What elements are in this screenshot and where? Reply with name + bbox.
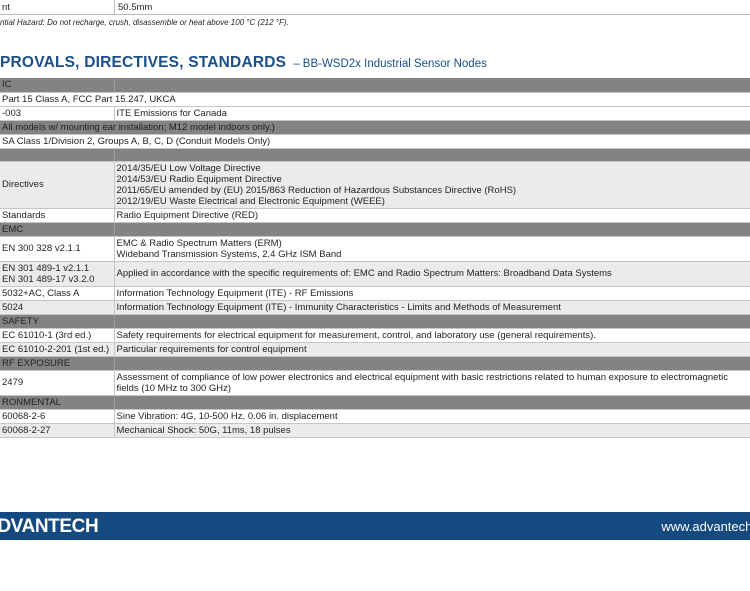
table-row: EN 301 489-1 v2.1.1EN 301 489-17 v3.2.0A… xyxy=(0,261,750,286)
table-section-label: EMC xyxy=(0,222,114,236)
table-cell-value xyxy=(114,78,750,92)
table-cell-value: Radio Equipment Directive (RED) xyxy=(114,208,750,222)
table-row: 2479Assessment of compliance of low powe… xyxy=(0,370,750,395)
table-row: EMC xyxy=(0,222,750,236)
table-row: Directives2014/35/EU Low Voltage Directi… xyxy=(0,161,750,208)
value-line: 2012/19/EU Waste Electrical and Electron… xyxy=(117,196,748,207)
table-cell-value: 2014/35/EU Low Voltage Directive2014/53/… xyxy=(114,161,750,208)
table-cell-key: 5032+AC, Class A xyxy=(0,286,114,300)
table-cell-value xyxy=(114,356,750,370)
value-line: Wideband Transmission Systems, 2.4 GHz I… xyxy=(117,249,748,260)
table-cell-value: Information Technology Equipment (ITE) -… xyxy=(114,300,750,314)
table-row: All models w/ mounting ear installation;… xyxy=(0,120,750,134)
page-footer: ADVANTECH www.advantech. xyxy=(0,512,750,540)
table-cell-value: Particular requirements for control equi… xyxy=(114,342,750,356)
table-cell-value: Mechanical Shock: 50G, 11ms, 18 pulses xyxy=(114,423,750,437)
table-row xyxy=(0,148,750,161)
table-cell-value: EMC & Radio Spectrum Matters (ERM)Wideba… xyxy=(114,236,750,261)
table-row: 60068-2-27Mechanical Shock: 50G, 11ms, 1… xyxy=(0,423,750,437)
table-row: RONMENTAL xyxy=(0,395,750,409)
table-row: IC xyxy=(0,78,750,92)
table-cell-key: 5024 xyxy=(0,300,114,314)
table-cell-value: Safety requirements for electrical equip… xyxy=(114,328,750,342)
table-section-label: RF EXPOSURE xyxy=(0,356,114,370)
page-title: PROVALS, DIRECTIVES, STANDARDS xyxy=(0,54,286,71)
advantech-logo: ADVANTECH xyxy=(0,516,98,538)
table-cell-key: 60068-2-6 xyxy=(0,409,114,423)
table-cell-key: EN 300 328 v2.1.1 xyxy=(0,236,114,261)
table-row: -003ITE Emissions for Canada xyxy=(0,106,750,120)
value-line: 2014/35/EU Low Voltage Directive xyxy=(117,163,748,174)
table-cell-key: Standards xyxy=(0,208,114,222)
approvals-spec-table: ICPart 15 Class A, FCC Part 15.247, UKCA… xyxy=(0,78,750,438)
table-cell-value xyxy=(114,395,750,409)
table-cell-value xyxy=(114,148,750,161)
table-cell-key: -003 xyxy=(0,106,114,120)
table-row: EN 300 328 v2.1.1EMC & Radio Spectrum Ma… xyxy=(0,236,750,261)
table-cell-value: ITE Emissions for Canada xyxy=(114,106,750,120)
table-row: EC 61010-1 (3rd ed.)Safety requirements … xyxy=(0,328,750,342)
table-section-label: RONMENTAL xyxy=(0,395,114,409)
table-cell-key: EN 301 489-1 v2.1.1EN 301 489-17 v3.2.0 xyxy=(0,261,114,286)
table-cell-value xyxy=(114,314,750,328)
table-cell-key: EC 61010-1 (3rd ed.) xyxy=(0,328,114,342)
table-row: 5032+AC, Class AInformation Technology E… xyxy=(0,286,750,300)
key-line: EN 301 489-17 v3.2.0 xyxy=(2,274,111,285)
table-cell-key: 60068-2-27 xyxy=(0,423,114,437)
table-cell-value: Information Technology Equipment (ITE) -… xyxy=(114,286,750,300)
table-cell-key: Directives xyxy=(0,161,114,208)
column-divider xyxy=(114,0,115,15)
table-cell-key: 2479 xyxy=(0,370,114,395)
fragment-row: nt 50.5mm xyxy=(0,0,750,15)
value-line-group: EMC & Radio Spectrum Matters (ERM)Wideba… xyxy=(117,238,748,260)
table-row: RF EXPOSURE xyxy=(0,356,750,370)
table-section-label xyxy=(0,148,114,161)
document-page: nt 50.5mm ntial Hazard: Do not recharge,… xyxy=(0,0,750,591)
table-cell-fullwidth: All models w/ mounting ear installation;… xyxy=(0,120,750,134)
table-row: 5024Information Technology Equipment (IT… xyxy=(0,300,750,314)
page-subtitle: – BB-WSD2x Industrial Sensor Nodes xyxy=(286,58,487,70)
value-line: 2011/65/EU amended by (EU) 2015/863 Redu… xyxy=(117,185,748,196)
table-cell-value: Assessment of compliance of low power el… xyxy=(114,370,750,395)
table-row: Part 15 Class A, FCC Part 15.247, UKCA xyxy=(0,92,750,106)
table-row: SA Class 1/Division 2, Groups A, B, C, D… xyxy=(0,134,750,148)
table-row: SAFETY xyxy=(0,314,750,328)
table-section-label: IC xyxy=(0,78,114,92)
table-row: StandardsRadio Equipment Directive (RED) xyxy=(0,208,750,222)
table-section-label: SAFETY xyxy=(0,314,114,328)
key-line-group: EN 301 489-1 v2.1.1EN 301 489-17 v3.2.0 xyxy=(2,263,111,285)
section-heading: PROVALS, DIRECTIVES, STANDARDS– BB-WSD2x… xyxy=(0,54,750,74)
value-line: 2014/53/EU Radio Equipment Directive xyxy=(117,174,748,185)
top-table-fragment: nt 50.5mm ntial Hazard: Do not recharge,… xyxy=(0,0,750,15)
table-cell-fullwidth: SA Class 1/Division 2, Groups A, B, C, D… xyxy=(0,134,750,148)
value-line-group: 2014/35/EU Low Voltage Directive2014/53/… xyxy=(117,163,748,207)
hazard-note: ntial Hazard: Do not recharge, crush, di… xyxy=(0,16,750,30)
table-cell-fullwidth: Part 15 Class A, FCC Part 15.247, UKCA xyxy=(0,92,750,106)
fragment-row-key: nt xyxy=(0,2,114,13)
footer-website-url[interactable]: www.advantech. xyxy=(661,519,750,534)
table-cell-value: Sine Vibration: 4G, 10-500 Hz, 0.06 in. … xyxy=(114,409,750,423)
spec-table-body: ICPart 15 Class A, FCC Part 15.247, UKCA… xyxy=(0,78,750,437)
table-cell-key: EC 61010-2-201 (1st ed.) xyxy=(0,342,114,356)
value-line: EMC & Radio Spectrum Matters (ERM) xyxy=(117,238,748,249)
table-cell-value xyxy=(114,222,750,236)
table-cell-value: Applied in accordance with the specific … xyxy=(114,261,750,286)
value-line: Assessment of compliance of low power el… xyxy=(117,372,748,383)
fragment-row-value: 50.5mm xyxy=(118,2,152,13)
table-row: 60068-2-6Sine Vibration: 4G, 10-500 Hz, … xyxy=(0,409,750,423)
value-line: fields (10 MHz to 300 GHz) xyxy=(117,383,748,394)
value-line-group: Assessment of compliance of low power el… xyxy=(117,372,748,394)
key-line: EN 301 489-1 v2.1.1 xyxy=(2,263,111,274)
table-row: EC 61010-2-201 (1st ed.)Particular requi… xyxy=(0,342,750,356)
